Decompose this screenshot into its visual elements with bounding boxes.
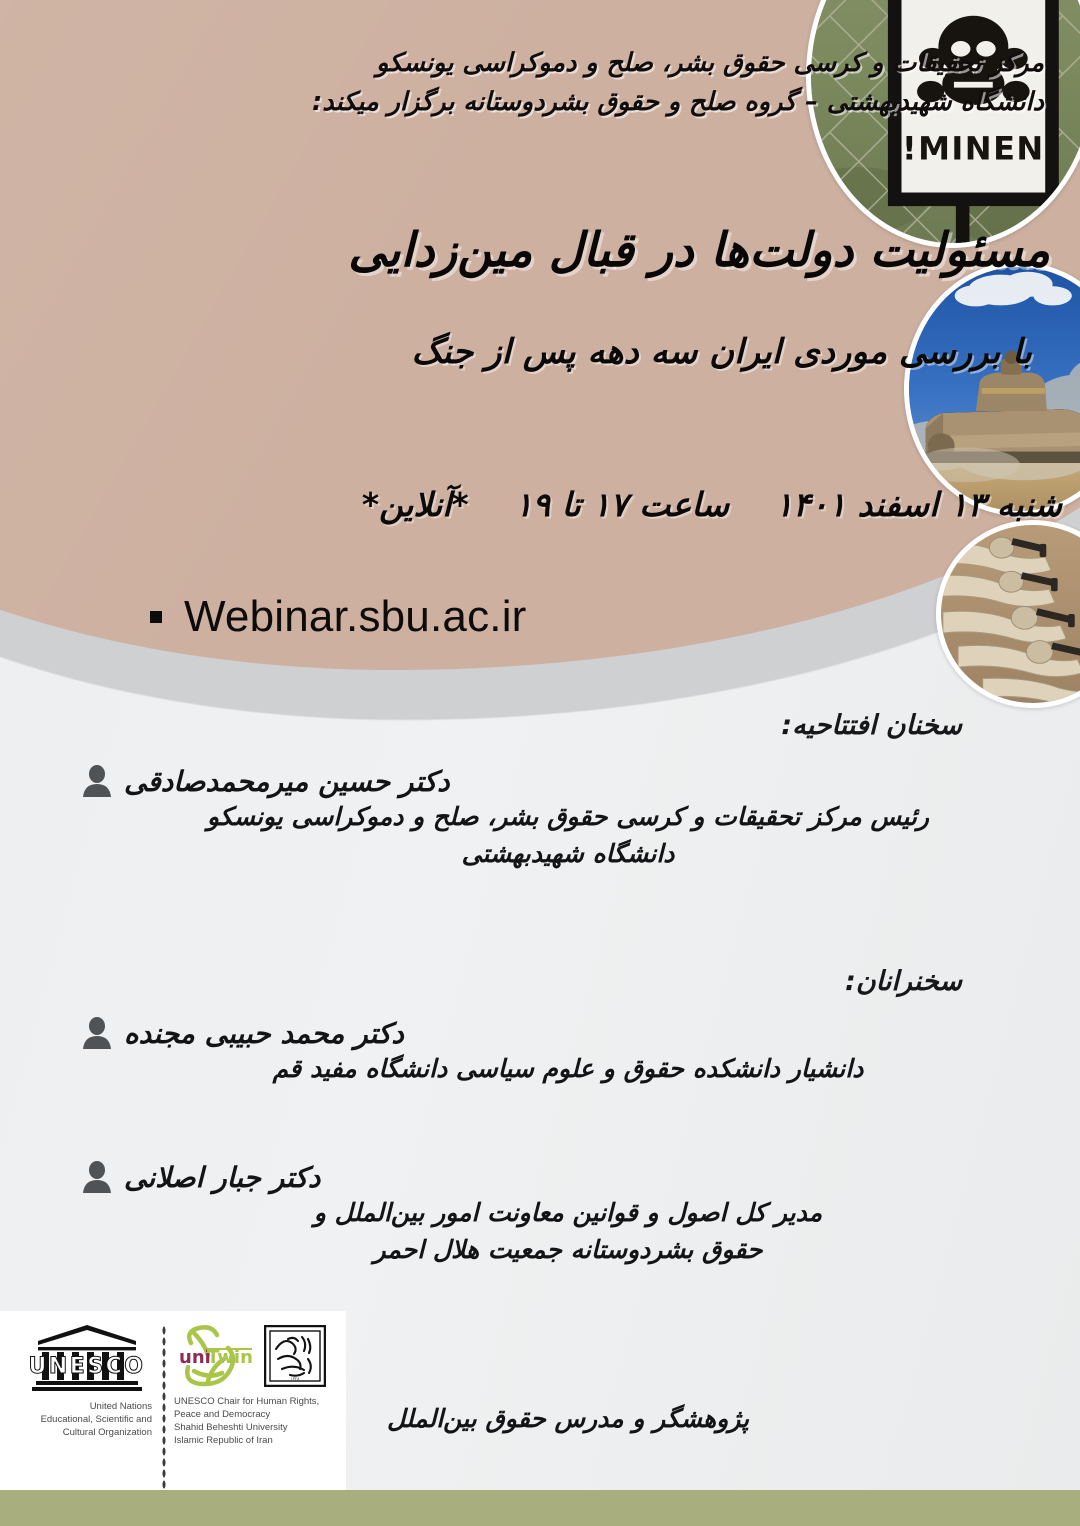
square-bullet-icon	[150, 611, 162, 623]
svg-text:MINEN!: MINEN!	[902, 130, 1045, 168]
webinar-url-text[interactable]: Webinar.sbu.ac.ir	[184, 592, 527, 642]
unitwin-caption-line-1: UNESCO Chair for Human Rights,	[174, 1395, 340, 1408]
speaker-1-affiliation: دانشیار دانشکده حقوق و علوم سیاسی دانشگا…	[80, 1050, 1056, 1087]
webinar-url[interactable]: Webinar.sbu.ac.ir	[150, 592, 527, 642]
unesco-caption-line-2: Educational, Scientific and	[8, 1414, 152, 1427]
host-line-2: دانشگاه شهیدبهشتی – گروه صلح و حقوق بشرد…	[204, 83, 1044, 122]
unesco-caption-line-1: United Nations	[8, 1401, 152, 1414]
unitwin-word-twin: Twin	[207, 1347, 253, 1368]
host-organization: مرکز تحقیقات و کرسی حقوق بشر، صلح و دموک…	[204, 44, 1044, 122]
opening-speaker: دکتر حسین میرمحمدصادقی رئیس مرکز تحقیقات…	[80, 764, 1080, 872]
speaker-2-name: دکتر جبار اصلانی	[124, 1161, 320, 1194]
speaker-1-name-row: دکتر محمد حبیبی مجنده	[80, 1016, 1056, 1050]
opening-speaker-name: دکتر حسین میرمحمدصادقی	[124, 765, 450, 798]
opening-speaker-affiliation-line-1: رئیس مرکز تحقیقات و کرسی حقوق بشر، صلح و…	[104, 798, 1032, 835]
poster-title: مسئولیت دولت‌ها در قبال مین‌زدایی	[170, 222, 1050, 281]
unesco-caption: United Nations Educational, Scientific a…	[8, 1401, 152, 1439]
svg-text:UNESCO: UNESCO	[29, 1354, 146, 1379]
unitwin-caption-line-3: Shahid Beheshti University	[174, 1421, 340, 1434]
unesco-logo-group: UNESCO UNESCO United Nations Educational…	[8, 1323, 156, 1439]
opening-remarks-heading: سخنان افتتاحیه:	[130, 710, 1080, 741]
unitwin-sbu-logos-row: uni Twin	[174, 1323, 340, 1389]
opening-speaker-affiliation-line-2: دانشگاه شهیدبهشتی	[104, 835, 1032, 872]
event-date: شنبه ۱۳ اسفند ۱۴۰۱	[775, 484, 1062, 525]
event-time: ساعت ۱۷ تا ۱۹	[515, 484, 729, 525]
person-icon	[80, 1160, 114, 1194]
host-line-1: مرکز تحقیقات و کرسی حقوق بشر، صلح و دموک…	[204, 44, 1044, 83]
unesco-logo-icon: UNESCO UNESCO	[22, 1323, 152, 1395]
dotted-divider	[162, 1325, 166, 1490]
unitwin-caption-line-2: Peace and Democracy	[174, 1408, 340, 1421]
speakers-heading: سخنرانان:	[130, 966, 1080, 997]
opening-speaker-name-row: دکتر حسین میرمحمدصادقی	[80, 764, 1056, 798]
shahid-beheshti-university-seal-icon: ۱۳۲۸	[264, 1325, 326, 1387]
speaker-2-affiliation: مدیر کل اصول و قوانین معاونت امور بین‌ال…	[80, 1194, 1056, 1268]
speaker-2: دکتر جبار اصلانی مدیر کل اصول و قوانین م…	[80, 1160, 1080, 1268]
speaker-2-affiliation-line-1: مدیر کل اصول و قوانین معاونت امور بین‌ال…	[104, 1194, 1032, 1231]
logo-panel: UNESCO UNESCO United Nations Educational…	[0, 1311, 346, 1490]
unitwin-caption: UNESCO Chair for Human Rights, Peace and…	[174, 1395, 340, 1447]
unitwin-logo-icon: uni Twin	[174, 1323, 256, 1389]
bottom-accent-band	[0, 1490, 1080, 1526]
opening-speaker-affiliation: رئیس مرکز تحقیقات و کرسی حقوق بشر، صلح و…	[80, 798, 1056, 872]
unesco-caption-line-3: Cultural Organization	[8, 1427, 152, 1440]
webinar-poster: ACHTUNG MINEN!	[0, 0, 1080, 1526]
person-icon	[80, 764, 114, 798]
speaker-1-name: دکتر محمد حبیبی مجنده	[124, 1017, 404, 1050]
event-datetime: شنبه ۱۳ اسفند ۱۴۰۱ ساعت ۱۷ تا ۱۹ *آنلاین…	[162, 484, 1062, 525]
svg-text:۱۳۲۸: ۱۳۲۸	[291, 1376, 300, 1381]
speaker-2-name-row: دکتر جبار اصلانی	[80, 1160, 1056, 1194]
unitwin-caption-line-4: Islamic Republic of Iran	[174, 1434, 340, 1447]
person-icon	[80, 1016, 114, 1050]
event-mode: *آنلاین*	[362, 484, 469, 525]
speaker-1: دکتر محمد حبیبی مجنده دانشیار دانشکده حق…	[80, 1016, 1080, 1087]
speaker-2-affiliation-line-2: حقوق بشردوستانه جمعیت هلال احمر	[104, 1231, 1032, 1268]
speaker-1-affiliation-line-1: دانشیار دانشکده حقوق و علوم سیاسی دانشگا…	[104, 1050, 1032, 1087]
unitwin-logo-group: uni Twin	[174, 1323, 340, 1447]
poster-subtitle: با بررسی موردی ایران سه دهه پس از جنگ	[172, 330, 1032, 374]
